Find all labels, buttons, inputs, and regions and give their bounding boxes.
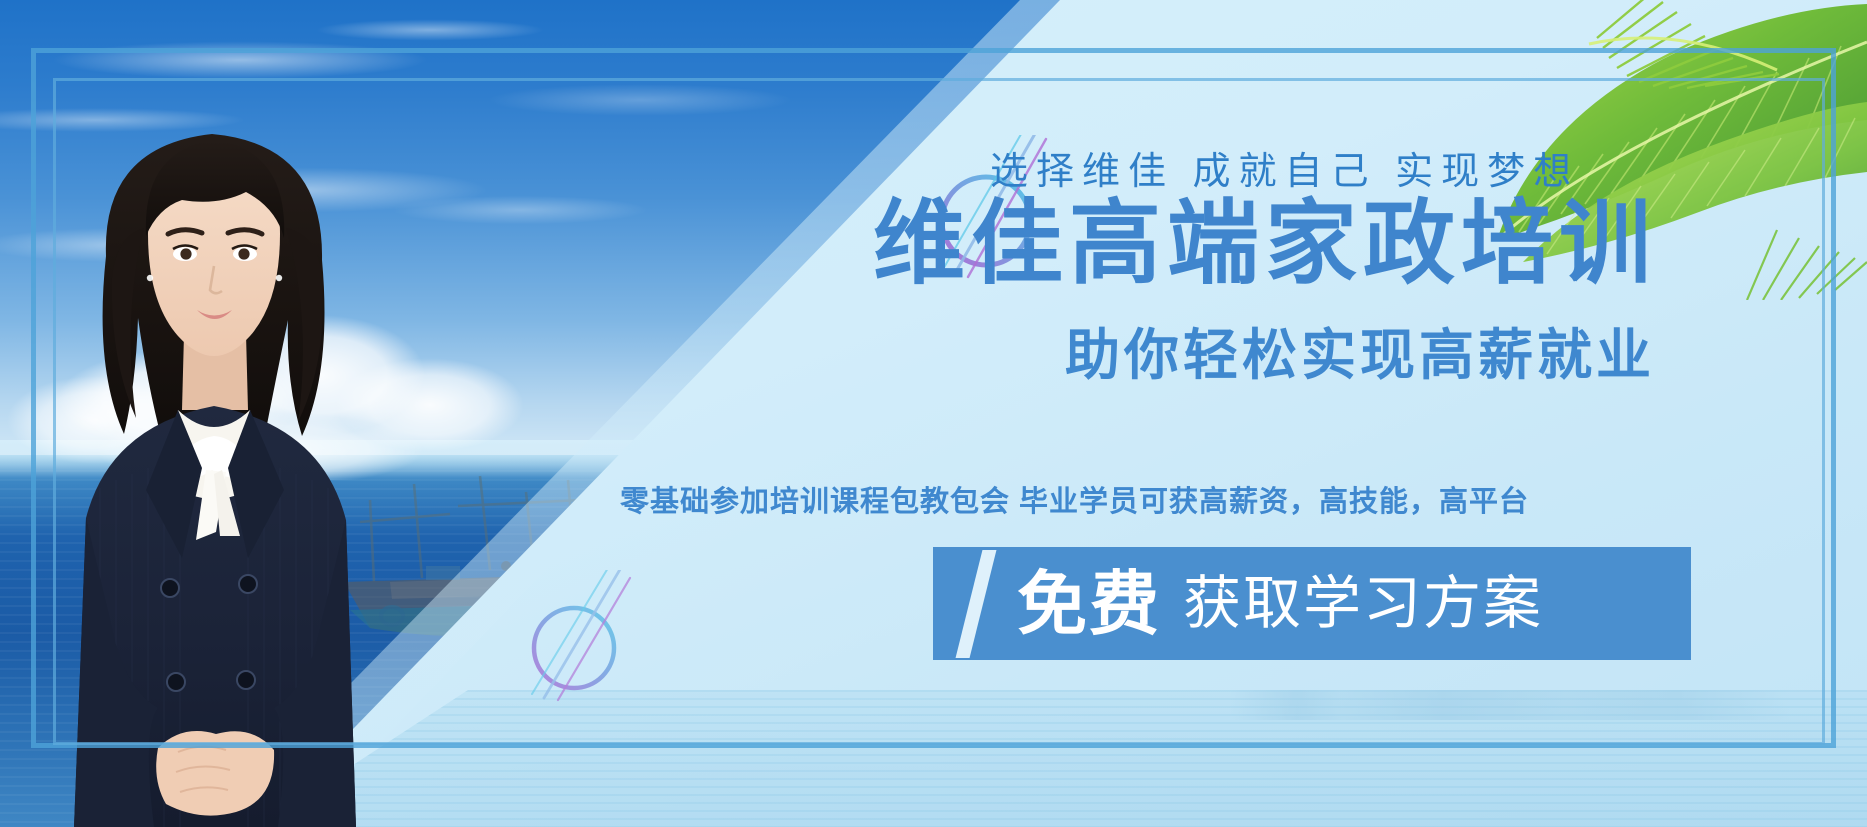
promo-banner: 选择维佳 成就自己 实现梦想 维佳高端家政培训 助你轻松实现高薪就业 零基础参加… (0, 0, 1867, 827)
banner-subtitle: 助你轻松实现高薪就业 (1065, 310, 1685, 390)
cta-emphasis-label: 免费 (1017, 569, 1161, 639)
page-title: 维佳高端家政培训 (873, 196, 1733, 293)
banner-description: 零基础参加培训课程包教包会 毕业学员可获高薪资，高技能，高平台 (620, 478, 1740, 520)
slash-accent-icon (956, 550, 997, 658)
banner-content: 选择维佳 成就自己 实现梦想 维佳高端家政培训 助你轻松实现高薪就业 零基础参加… (0, 0, 1867, 827)
free-consultation-cta-button[interactable]: 免费 获取学习方案 (933, 547, 1691, 660)
banner-tagline: 选择维佳 成就自己 实现梦想 (990, 140, 1670, 195)
cta-label: 获取学习方案 (1183, 575, 1543, 633)
